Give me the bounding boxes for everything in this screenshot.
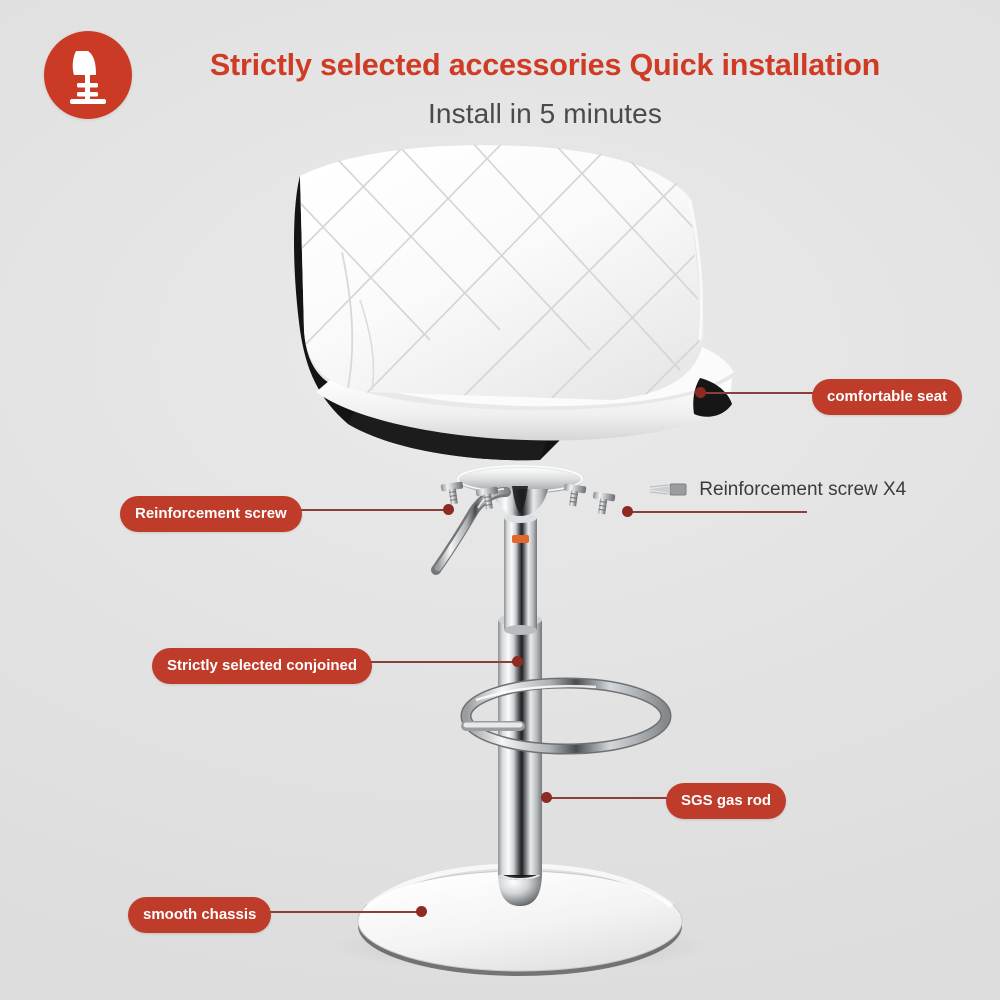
- leader-line-comfortable-seat: [700, 392, 818, 394]
- callout-reinforcement-screw-x4[interactable]: Reinforcement screw X4: [644, 479, 906, 501]
- leader-dot-smooth-chassis: [416, 906, 427, 917]
- leader-line-smooth-chassis: [265, 911, 423, 913]
- screw-1: [441, 482, 466, 506]
- seat-assembly: [250, 115, 790, 460]
- chassis-base: [358, 863, 682, 976]
- callout-reinforcement-screw-x4-label: Reinforcement screw X4: [699, 479, 906, 500]
- callout-comfortable-seat[interactable]: comfortable seat: [812, 379, 962, 415]
- infographic-page: Strictly selected accessories Quick inst…: [0, 0, 1000, 1000]
- height-adjust-lever: [436, 489, 506, 570]
- callout-sgs-gas-rod[interactable]: SGS gas rod: [666, 783, 786, 819]
- leader-dot-strictly-selected-conjoined: [512, 656, 523, 667]
- leader-dot-reinforcement-screw-x4: [622, 506, 633, 517]
- gas-cylinder-mid: [504, 513, 537, 635]
- callout-smooth-chassis[interactable]: smooth chassis: [128, 897, 271, 933]
- leader-line-reinforcement-screw-x4: [627, 511, 807, 513]
- callout-reinforcement-screw[interactable]: Reinforcement screw: [120, 496, 302, 532]
- screw-3: [562, 484, 587, 508]
- footrest-ring: [466, 683, 666, 749]
- screw-icon: [644, 480, 688, 498]
- screw-4: [591, 492, 616, 516]
- leader-line-sgs-gas-rod: [546, 797, 668, 799]
- leader-dot-sgs-gas-rod: [541, 792, 552, 803]
- callout-strictly-selected-conjoined[interactable]: Strictly selected conjoined: [152, 648, 372, 684]
- leader-dot-comfortable-seat: [695, 387, 706, 398]
- leader-dot-reinforcement-screw: [443, 504, 454, 515]
